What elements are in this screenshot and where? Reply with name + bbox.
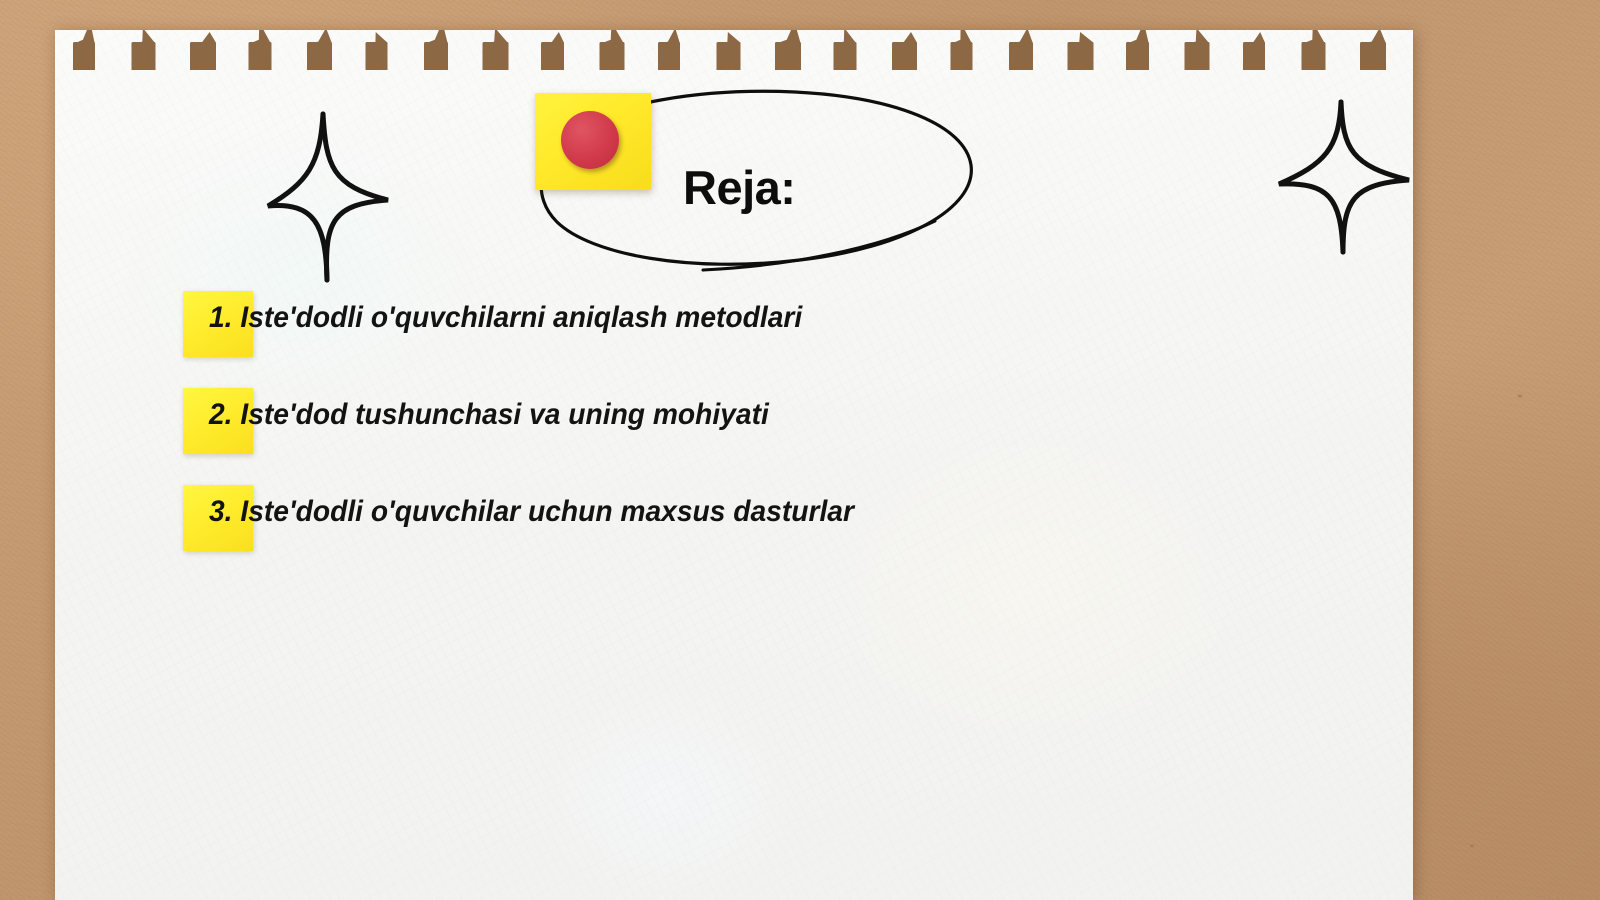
- list-item-label: 2. Iste'dod tushunchasi va uning mohiyat…: [209, 398, 769, 432]
- list-item[interactable]: 2. Iste'dod tushunchasi va uning mohiyat…: [55, 380, 1413, 477]
- slide-canvas: Reja: 1. Iste'dodli o'quvchilarni aniqla…: [0, 0, 1600, 900]
- plan-list: 1. Iste'dodli o'quvchilarni aniqlash met…: [55, 283, 1413, 574]
- sticky-note[interactable]: [535, 93, 651, 190]
- sparkle-icon: [260, 108, 410, 286]
- sparkle-icon: [1273, 98, 1413, 256]
- pin-circle-icon: [561, 111, 619, 169]
- notepad-page: Reja: 1. Iste'dodli o'quvchilarni aniqla…: [55, 30, 1413, 900]
- list-item[interactable]: 1. Iste'dodli o'quvchilarni aniqlash met…: [55, 283, 1413, 380]
- list-item[interactable]: 3. Iste'dodli o'quvchilar uchun maxsus d…: [55, 477, 1413, 574]
- list-item-label: 1. Iste'dodli o'quvchilarni aniqlash met…: [209, 301, 802, 335]
- page-title: Reja:: [683, 160, 795, 215]
- list-item-label: 3. Iste'dodli o'quvchilar uchun maxsus d…: [209, 495, 854, 529]
